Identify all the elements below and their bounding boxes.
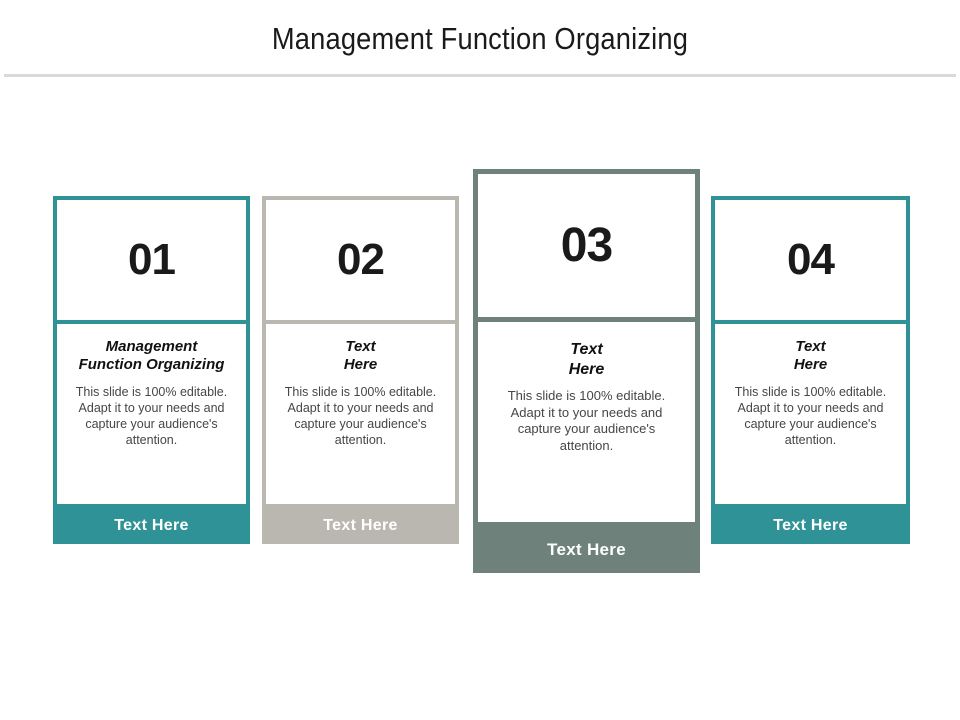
step-card-02[interactable]: 02 Text Here This slide is 100% editable… xyxy=(262,196,459,544)
slide-canvas: Management Function Organizing 01 Manage… xyxy=(0,0,960,720)
step-heading-01: Management Function Organizing xyxy=(67,338,236,375)
step-card-01[interactable]: 01 Management Function Organizing This s… xyxy=(53,196,250,544)
step-number-01: 01 xyxy=(128,238,175,282)
step-footer-label-01: Text Here xyxy=(114,517,188,535)
step-number-box-04: 04 xyxy=(711,196,910,324)
step-number-box-03: 03 xyxy=(473,169,700,322)
step-footer-bar-01[interactable]: Text Here xyxy=(53,508,250,544)
step-number-04: 04 xyxy=(787,238,834,282)
step-content-box-02: Text Here This slide is 100% editable. A… xyxy=(262,324,459,508)
step-footer-bar-02[interactable]: Text Here xyxy=(262,508,459,544)
step-number-02: 02 xyxy=(337,238,384,282)
step-footer-label-02: Text Here xyxy=(323,517,397,535)
step-heading-02: Text Here xyxy=(276,338,445,375)
step-content-box-04: Text Here This slide is 100% editable. A… xyxy=(711,324,910,508)
step-number-03: 03 xyxy=(561,222,612,270)
step-footer-label-03: Text Here xyxy=(547,540,626,560)
step-heading-03: Text Here xyxy=(490,340,683,379)
step-footer-bar-04[interactable]: Text Here xyxy=(711,508,910,544)
step-number-box-02: 02 xyxy=(262,196,459,324)
step-footer-bar-03[interactable]: Text Here xyxy=(473,527,700,573)
page-title: Management Function Organizing xyxy=(58,20,903,58)
step-card-04[interactable]: 04 Text Here This slide is 100% editable… xyxy=(711,196,910,544)
step-body-03: This slide is 100% editable. Adapt it to… xyxy=(490,388,683,455)
step-number-box-01: 01 xyxy=(53,196,250,324)
step-body-01: This slide is 100% editable. Adapt it to… xyxy=(67,384,236,448)
step-footer-label-04: Text Here xyxy=(773,517,847,535)
title-divider xyxy=(4,74,956,77)
step-body-04: This slide is 100% editable. Adapt it to… xyxy=(725,384,896,448)
step-card-03[interactable]: 03 Text Here This slide is 100% editable… xyxy=(473,169,700,573)
step-content-box-03: Text Here This slide is 100% editable. A… xyxy=(473,322,700,527)
step-heading-04: Text Here xyxy=(725,338,896,375)
step-body-02: This slide is 100% editable. Adapt it to… xyxy=(276,384,445,448)
step-content-box-01: Management Function Organizing This slid… xyxy=(53,324,250,508)
